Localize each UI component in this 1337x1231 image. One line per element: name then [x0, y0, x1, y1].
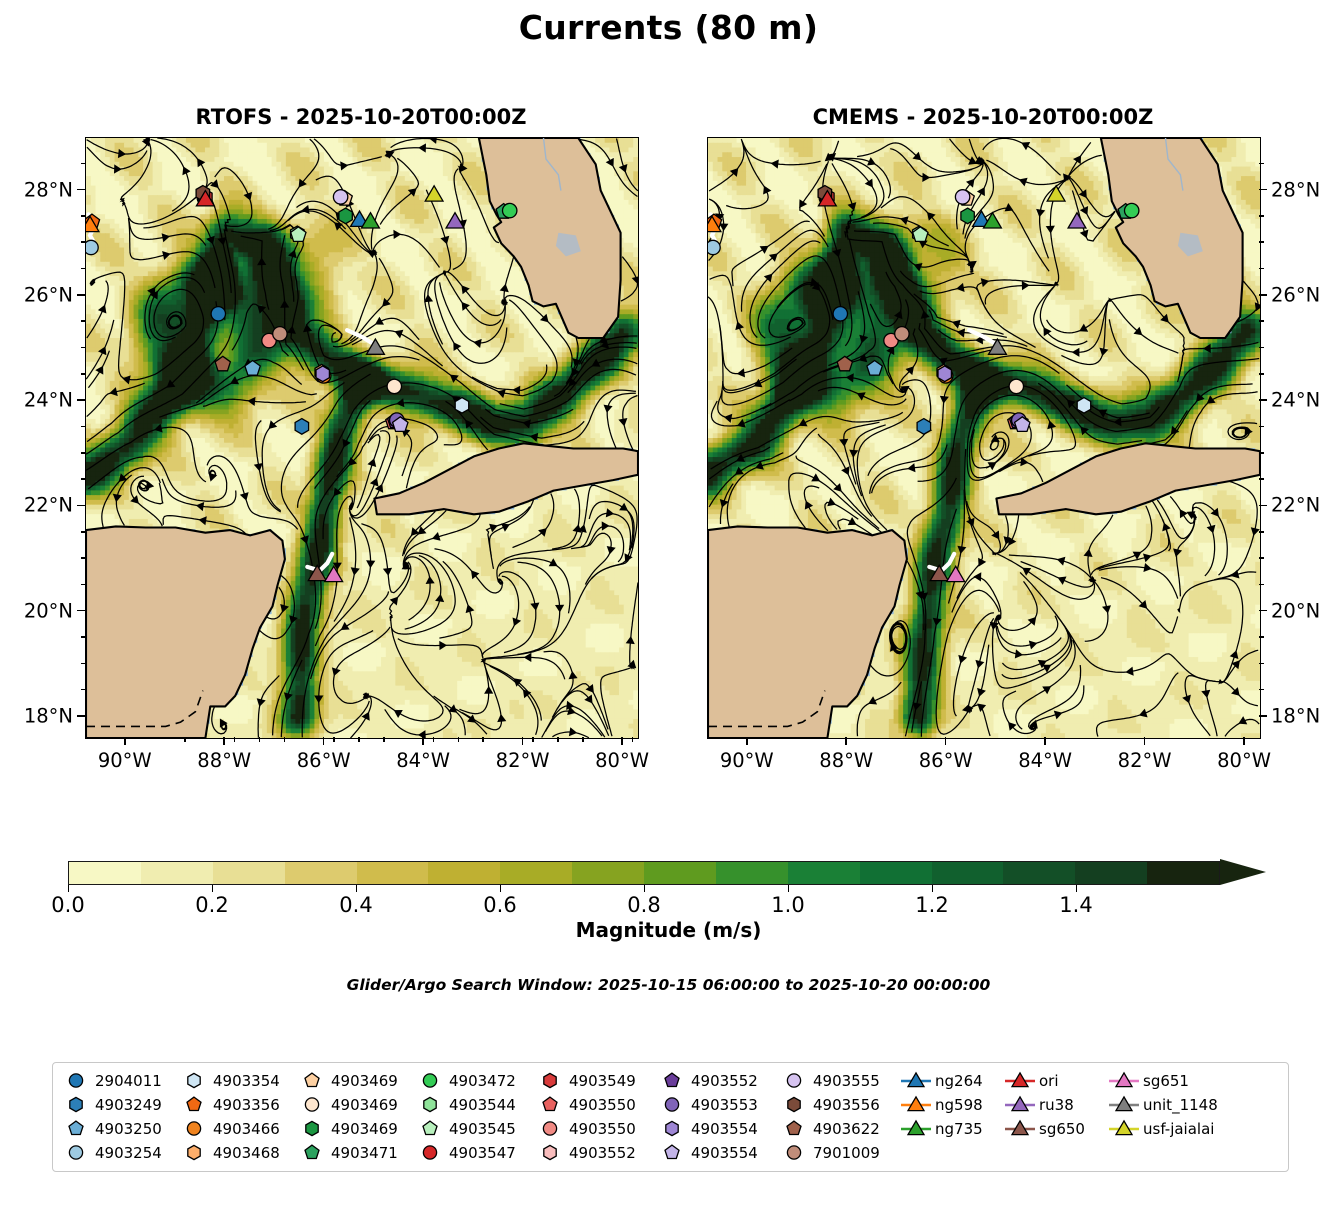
marker-4903354[interactable] — [1077, 398, 1091, 414]
legend-item[interactable]: 7901009 — [777, 1142, 899, 1163]
page-title: Currents (80 m) — [0, 8, 1337, 47]
x-tick — [1144, 737, 1146, 745]
marker-4903254[interactable] — [86, 240, 98, 254]
y-tick-label: 22°N — [1271, 494, 1320, 517]
y-tick-label: 20°N — [1271, 599, 1320, 622]
legend-label: 4903554 — [689, 1144, 758, 1162]
legend-item[interactable]: ng598 — [899, 1094, 1003, 1115]
x-tick-minor — [284, 737, 286, 742]
y-tick-minor — [81, 636, 86, 638]
legend-label: 4903468 — [211, 1144, 280, 1162]
y-tick-label: 18°N — [1271, 704, 1320, 727]
legend-label: 4903469 — [329, 1120, 398, 1138]
colorbar-tick-label: 1.4 — [1059, 893, 1092, 917]
x-tick-minor — [458, 737, 460, 742]
legend-item[interactable]: 4903469 — [295, 1094, 413, 1115]
colorbar-band-13 — [1003, 862, 1075, 884]
marker-4903354[interactable] — [455, 398, 469, 414]
legend-item[interactable]: sg650 — [1003, 1118, 1107, 1139]
y-tick-minor — [1259, 373, 1264, 375]
map-canvas — [86, 138, 638, 738]
x-tick-label: 88°W — [197, 749, 251, 772]
colorbar-title: Magnitude (m/s) — [0, 918, 1337, 942]
legend-item[interactable]: ori — [1003, 1070, 1107, 1091]
colorbar-band-6 — [500, 862, 572, 884]
legend-marker-pentagon-icon — [177, 1094, 211, 1115]
x-tick-minor — [632, 737, 634, 742]
marker-2904011[interactable] — [211, 307, 225, 321]
x-tick — [522, 737, 524, 745]
legend-label: 4903554 — [689, 1120, 758, 1138]
legend-marker-glider-icon — [1003, 1118, 1037, 1139]
legend-column-5: 4903552490355349035544903554 — [655, 1070, 777, 1163]
y-tick-minor — [1259, 452, 1264, 454]
legend-label: ng264 — [933, 1072, 983, 1090]
y-tick-minor — [81, 478, 86, 480]
y-tick — [1259, 294, 1267, 296]
marker-4903469[interactable] — [961, 208, 974, 224]
legend-item[interactable]: usf-jaialai — [1107, 1118, 1227, 1139]
colorbar-tick-label: 0.6 — [483, 893, 516, 917]
legend-item[interactable]: 4903556 — [777, 1094, 899, 1115]
marker-4903469[interactable] — [1009, 379, 1023, 393]
legend-label: 4903249 — [93, 1096, 162, 1114]
colorbar-band-0 — [69, 862, 141, 884]
legend-item[interactable]: 4903549 — [533, 1070, 655, 1091]
y-tick-label: 28°N — [0, 178, 73, 201]
legend-label: sg650 — [1037, 1120, 1085, 1138]
map-panel-rtofs[interactable] — [85, 137, 639, 739]
y-tick-minor — [81, 426, 86, 428]
legend-label: 4903469 — [329, 1096, 398, 1114]
legend-label: 2904011 — [93, 1072, 162, 1090]
legend-item[interactable]: 4903468 — [177, 1142, 295, 1163]
x-tick-minor — [557, 737, 559, 742]
legend-item[interactable]: 4903472 — [413, 1070, 533, 1091]
x-tick-minor — [383, 737, 385, 742]
legend-item[interactable]: ru38 — [1003, 1094, 1107, 1115]
panel-title-cmems: CMEMS - 2025-10-20T00:00Z — [707, 105, 1259, 129]
legend-marker-pentagon-icon — [413, 1118, 447, 1139]
legend-marker-pentagon-icon — [295, 1070, 329, 1091]
colorbar-tick-label: 1.2 — [915, 893, 948, 917]
x-tick-minor — [358, 737, 360, 742]
marker-4903249[interactable] — [295, 419, 309, 435]
y-tick-label: 26°N — [0, 283, 73, 306]
legend-label: 4903466 — [211, 1120, 280, 1138]
y-tick-label: 26°N — [1271, 283, 1320, 306]
y-tick-minor — [1259, 557, 1264, 559]
legend-label: 4903552 — [567, 1144, 636, 1162]
y-tick-minor — [81, 347, 86, 349]
legend-label: 4903552 — [689, 1072, 758, 1090]
legend-marker-glider-icon — [1107, 1118, 1141, 1139]
legend-label: 4903547 — [447, 1144, 516, 1162]
legend-marker-hexagon-icon — [413, 1094, 447, 1115]
legend-item[interactable]: 4903550 — [533, 1118, 655, 1139]
y-tick-minor — [81, 531, 86, 533]
y-tick — [77, 715, 85, 717]
x-tick-label: 86°W — [919, 749, 973, 772]
legend-marker-circle-icon — [533, 1118, 567, 1139]
legend-marker-circle-icon — [295, 1094, 329, 1115]
legend-marker-circle-icon — [59, 1070, 93, 1091]
legend-item[interactable]: 4903469 — [295, 1118, 413, 1139]
marker-4903555[interactable] — [333, 190, 347, 204]
legend-label: 4903469 — [329, 1072, 398, 1090]
legend-label: 4903545 — [447, 1120, 516, 1138]
legend-marker-circle-icon — [59, 1142, 93, 1163]
legend-label: 4903556 — [811, 1096, 880, 1114]
x-tick-minor — [184, 737, 186, 742]
legend-marker-glider-icon — [1107, 1094, 1141, 1115]
legend-item[interactable]: 4903250 — [59, 1118, 177, 1139]
marker-2904011[interactable] — [833, 307, 847, 321]
colorbar-tick — [356, 885, 357, 892]
colorbar-tick-label: 0.8 — [627, 893, 660, 917]
y-tick-minor — [81, 452, 86, 454]
x-tick-minor — [582, 737, 584, 742]
legend-item[interactable]: 4903555 — [777, 1070, 899, 1091]
colorbar-tick — [212, 885, 213, 892]
y-tick-minor — [81, 320, 86, 322]
x-tick-label: 86°W — [297, 749, 351, 772]
y-tick-minor — [1259, 584, 1264, 586]
colorbar-tick — [1076, 885, 1077, 892]
x-tick — [1044, 737, 1046, 745]
y-tick-label: 24°N — [0, 389, 73, 412]
y-tick-minor — [1259, 241, 1264, 243]
x-tick — [323, 737, 325, 745]
panel-title-rtofs: RTOFS - 2025-10-20T00:00Z — [85, 105, 637, 129]
legend-label: unit_1148 — [1141, 1096, 1218, 1114]
legend-item[interactable]: 4903354 — [177, 1070, 295, 1091]
x-tick-label: 80°W — [595, 749, 649, 772]
y-tick-minor — [1259, 478, 1264, 480]
y-tick-minor — [1259, 347, 1264, 349]
legend-marker-glider-icon — [1003, 1070, 1037, 1091]
x-tick — [422, 737, 424, 745]
legend-label: 4903553 — [689, 1096, 758, 1114]
legend-item[interactable]: ng735 — [899, 1118, 1003, 1139]
legend-label: 4903544 — [447, 1096, 516, 1114]
y-tick-minor — [1259, 215, 1264, 217]
colorbar-band-14 — [1075, 862, 1147, 884]
y-tick-minor — [81, 584, 86, 586]
marker-7901009[interactable] — [273, 327, 287, 341]
x-tick — [1243, 737, 1245, 745]
search-window-caption: Glider/Argo Search Window: 2025-10-15 06… — [0, 976, 1337, 994]
legend-label: 4903250 — [93, 1120, 162, 1138]
colorbar-tick — [644, 885, 645, 892]
legend-item[interactable]: unit_1148 — [1107, 1094, 1227, 1115]
legend-item[interactable]: 4903622 — [777, 1118, 899, 1139]
colorbar-tick-label: 1.0 — [771, 893, 804, 917]
legend-marker-hexagon-icon — [777, 1094, 811, 1115]
y-tick-minor — [81, 373, 86, 375]
x-tick-minor — [333, 737, 335, 742]
y-tick-minor — [1259, 689, 1264, 691]
colorbar-band-8 — [644, 862, 716, 884]
x-tick-label: 88°W — [819, 749, 873, 772]
legend-label: 4903254 — [93, 1144, 162, 1162]
colorbar-band-10 — [788, 862, 860, 884]
legend-marker-glider-icon — [1003, 1094, 1037, 1115]
legend-item[interactable]: 4903553 — [655, 1094, 777, 1115]
y-tick — [1259, 715, 1267, 717]
legend-label: 4903472 — [447, 1072, 516, 1090]
y-tick-label: 24°N — [1271, 389, 1320, 412]
colorbar-band-5 — [428, 862, 500, 884]
legend-marker-circle-icon — [177, 1118, 211, 1139]
legend-marker-hexagon-icon — [533, 1070, 567, 1091]
x-tick-label: 84°W — [396, 749, 450, 772]
legend-marker-glider-icon — [899, 1094, 933, 1115]
x-tick — [223, 737, 225, 745]
legend-column-0: 2904011490324949032504903254 — [59, 1070, 177, 1163]
legend-item[interactable]: 4903249 — [59, 1094, 177, 1115]
legend-item[interactable]: 4903254 — [59, 1142, 177, 1163]
y-tick-minor — [1259, 663, 1264, 665]
x-tick — [845, 737, 847, 745]
legend-label: ru38 — [1037, 1096, 1074, 1114]
legend-label: 4903354 — [211, 1072, 280, 1090]
marker-4903472[interactable] — [1125, 203, 1139, 217]
marker-4903554[interactable] — [316, 366, 329, 382]
legend-marker-circle-icon — [655, 1094, 689, 1115]
legend-label: 4903555 — [811, 1072, 880, 1090]
y-tick-minor — [81, 241, 86, 243]
y-tick — [77, 294, 85, 296]
legend-item[interactable]: 4903554 — [655, 1142, 777, 1163]
x-tick — [746, 737, 748, 745]
legend-item[interactable]: 4903554 — [655, 1118, 777, 1139]
legend-item[interactable]: 4903552 — [655, 1070, 777, 1091]
legend-item[interactable]: 2904011 — [59, 1070, 177, 1091]
x-tick-label: 82°W — [496, 749, 550, 772]
y-tick-minor — [1259, 268, 1264, 270]
marker-4903472[interactable] — [503, 203, 517, 217]
legend-column-2: 4903469490346949034694903471 — [295, 1070, 413, 1163]
legend-column-9: sg651unit_1148usf-jaialai — [1107, 1070, 1227, 1163]
x-tick-label: 84°W — [1018, 749, 1072, 772]
colorbar-tick — [932, 885, 933, 892]
y-tick-minor — [81, 557, 86, 559]
legend-label: ng735 — [933, 1120, 983, 1138]
legend-column-7: ng264ng598ng735 — [899, 1070, 1003, 1163]
y-tick-label: 22°N — [0, 494, 73, 517]
colorbar-extend-max-arrow — [1220, 859, 1266, 885]
y-tick-label: 28°N — [1271, 178, 1320, 201]
legend-marker-hexagon-icon — [177, 1070, 211, 1091]
legend-item[interactable]: 4903466 — [177, 1118, 295, 1139]
legend-item[interactable]: 4903545 — [413, 1118, 533, 1139]
x-tick-minor — [433, 737, 435, 742]
y-tick — [77, 505, 85, 507]
colorbar-tick — [68, 885, 69, 892]
legend-item[interactable]: 4903552 — [533, 1142, 655, 1163]
legend-item[interactable]: ng264 — [899, 1070, 1003, 1091]
y-tick-minor — [81, 268, 86, 270]
y-tick — [1259, 399, 1267, 401]
x-tick — [945, 737, 947, 745]
y-tick-minor — [81, 163, 86, 165]
legend-marker-hexagon-icon — [177, 1142, 211, 1163]
legend-grid: 2904011490324949032504903254490335449033… — [59, 1070, 1282, 1163]
marker-4903254[interactable] — [708, 240, 720, 254]
colorbar[interactable] — [68, 861, 1268, 885]
legend-marker-pentagon-icon — [655, 1142, 689, 1163]
legend-marker-glider-icon — [1107, 1070, 1141, 1091]
y-tick-minor — [1259, 320, 1264, 322]
legend-column-1: 4903354490335649034664903468 — [177, 1070, 295, 1163]
marker-7901009[interactable] — [895, 327, 909, 341]
y-tick — [77, 610, 85, 612]
legend-marker-hexagon-icon — [295, 1118, 329, 1139]
colorbar-tick — [500, 885, 501, 892]
colorbar-band-1 — [141, 862, 213, 884]
x-tick-minor — [234, 737, 236, 742]
y-tick — [1259, 505, 1267, 507]
y-tick-minor — [1259, 531, 1264, 533]
legend-marker-hexagon-icon — [655, 1118, 689, 1139]
map-canvas — [708, 138, 1260, 738]
legend-item[interactable]: 4903550 — [533, 1094, 655, 1115]
y-tick-minor — [81, 689, 86, 691]
x-tick-minor — [532, 737, 534, 742]
legend-marker-glider-icon — [899, 1070, 933, 1091]
marker-4903469[interactable] — [387, 379, 401, 393]
colorbar-band-12 — [932, 862, 1004, 884]
y-tick-label: 18°N — [0, 704, 73, 727]
legend-marker-pentagon-icon — [295, 1142, 329, 1163]
legend-label: ng598 — [933, 1096, 983, 1114]
legend-label: sg651 — [1141, 1072, 1189, 1090]
x-tick-label: 90°W — [98, 749, 152, 772]
legend-marker-glider-icon — [899, 1118, 933, 1139]
legend-label: 4903471 — [329, 1144, 398, 1162]
marker-4903554[interactable] — [938, 366, 951, 382]
figure-canvas: Currents (80 m) RTOFS - 2025-10-20T00:00… — [0, 0, 1337, 1231]
y-tick — [77, 189, 85, 191]
legend-label: 7901009 — [811, 1144, 880, 1162]
y-tick — [77, 399, 85, 401]
x-tick-minor — [482, 737, 484, 742]
legend-label: 4903550 — [567, 1120, 636, 1138]
colorbar-band-7 — [572, 862, 644, 884]
legend-marker-circle-icon — [777, 1070, 811, 1091]
x-tick — [124, 737, 126, 745]
colorbar-gradient — [68, 861, 1220, 885]
legend-marker-hexagon-icon — [533, 1142, 567, 1163]
y-tick-minor — [1259, 426, 1264, 428]
legend-column-3: 4903472490354449035454903547 — [413, 1070, 533, 1163]
x-tick — [621, 737, 623, 745]
colorbar-band-9 — [716, 862, 788, 884]
legend-box[interactable]: 2904011490324949032504903254490335449033… — [52, 1062, 1289, 1172]
x-tick-minor — [259, 737, 261, 742]
legend-item[interactable]: sg651 — [1107, 1070, 1227, 1091]
legend-label: ori — [1037, 1072, 1059, 1090]
y-tick-minor — [1259, 636, 1264, 638]
x-tick-label: 82°W — [1118, 749, 1172, 772]
legend-marker-pentagon-icon — [777, 1118, 811, 1139]
colorbar-band-11 — [860, 862, 932, 884]
colorbar-band-15 — [1147, 862, 1219, 884]
legend-item[interactable]: 4903544 — [413, 1094, 533, 1115]
legend-column-6: 4903555490355649036227901009 — [777, 1070, 899, 1163]
legend-marker-circle-icon — [413, 1070, 447, 1091]
x-tick-label: 90°W — [720, 749, 774, 772]
colorbar-band-3 — [285, 862, 357, 884]
legend-item[interactable]: 4903356 — [177, 1094, 295, 1115]
map-panel-cmems[interactable] — [707, 137, 1261, 739]
legend-marker-pentagon-icon — [533, 1094, 567, 1115]
legend-label: 4903622 — [811, 1120, 880, 1138]
legend-item[interactable]: 4903469 — [295, 1070, 413, 1091]
legend-item[interactable]: 4903547 — [413, 1142, 533, 1163]
colorbar-band-2 — [213, 862, 285, 884]
y-tick-minor — [81, 663, 86, 665]
legend-marker-circle-icon — [777, 1142, 811, 1163]
legend-item[interactable]: 4903471 — [295, 1142, 413, 1163]
marker-4903249[interactable] — [917, 419, 931, 435]
colorbar-tick — [788, 885, 789, 892]
colorbar-band-4 — [357, 862, 429, 884]
legend-label: 4903549 — [567, 1072, 636, 1090]
legend-marker-hexagon-icon — [59, 1094, 93, 1115]
colorbar-tick-label: 0.2 — [195, 893, 228, 917]
y-tick — [1259, 189, 1267, 191]
marker-4903555[interactable] — [955, 190, 969, 204]
x-tick-label: 80°W — [1217, 749, 1271, 772]
colorbar-tick-label: 0.0 — [51, 893, 84, 917]
marker-4903469[interactable] — [339, 208, 352, 224]
legend-label: 4903356 — [211, 1096, 280, 1114]
y-tick-label: 20°N — [0, 599, 73, 622]
legend-label: usf-jaialai — [1141, 1120, 1214, 1138]
legend-column-4: 4903549490355049035504903552 — [533, 1070, 655, 1163]
legend-marker-circle-icon — [413, 1142, 447, 1163]
legend-marker-pentagon-icon — [655, 1070, 689, 1091]
legend-column-8: oriru38sg650 — [1003, 1070, 1107, 1163]
colorbar-tick-label: 0.4 — [339, 893, 372, 917]
legend-label: 4903550 — [567, 1096, 636, 1114]
y-tick — [1259, 610, 1267, 612]
y-tick-minor — [1259, 163, 1264, 165]
y-tick-minor — [81, 215, 86, 217]
legend-marker-pentagon-icon — [59, 1118, 93, 1139]
